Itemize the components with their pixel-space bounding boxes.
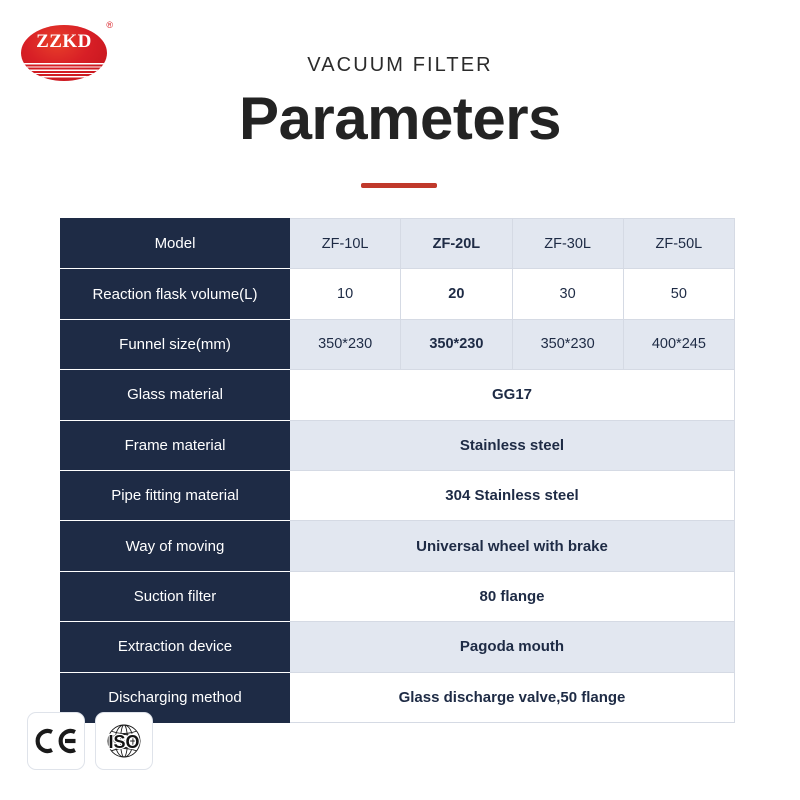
- table-row: Reaction flask volume(L)10203050: [61, 269, 735, 319]
- row-label: Model: [61, 219, 290, 269]
- row-label: Extraction device: [61, 622, 290, 672]
- row-value-zf-30l: ZF-30L: [512, 219, 623, 269]
- table-body: ModelZF-10LZF-20LZF-30LZF-50LReaction fl…: [61, 219, 735, 723]
- row-value-zf-20l: 20: [401, 269, 512, 319]
- row-label: Way of moving: [61, 521, 290, 571]
- row-value-merged: Stainless steel: [290, 420, 735, 470]
- specifications-table: ModelZF-10LZF-20LZF-30LZF-50LReaction fl…: [60, 218, 735, 723]
- row-value-zf-20l: ZF-20L: [401, 219, 512, 269]
- ce-mark-icon: [35, 727, 77, 755]
- row-value-zf-10l: 350*230: [290, 319, 401, 369]
- row-value-zf-10l: 10: [290, 269, 401, 319]
- row-value-zf-50l: ZF-50L: [623, 219, 734, 269]
- page-subtitle: VACUUM FILTER: [0, 54, 800, 77]
- ce-badge: [27, 712, 85, 770]
- registered-trademark-icon: ®: [106, 21, 113, 30]
- table-row: Discharging methodGlass discharge valve,…: [61, 672, 735, 722]
- row-label: Frame material: [61, 420, 290, 470]
- table-row: Glass materialGG17: [61, 370, 735, 420]
- row-value-merged: Glass discharge valve,50 flange: [290, 672, 735, 722]
- iso-badge: ISO: [95, 712, 153, 770]
- row-label: Funnel size(mm): [61, 319, 290, 369]
- row-value-zf-50l: 400*245: [623, 319, 734, 369]
- table-row: Way of movingUniversal wheel with brake: [61, 521, 735, 571]
- row-label: Suction filter: [61, 571, 290, 621]
- row-value-zf-20l: 350*230: [401, 319, 512, 369]
- svg-text:ISO: ISO: [108, 732, 139, 752]
- iso-globe-icon: ISO: [101, 719, 147, 763]
- logo-wordmark: ZZKD: [21, 32, 107, 51]
- row-value-zf-30l: 30: [512, 269, 623, 319]
- row-value-zf-50l: 50: [623, 269, 734, 319]
- row-label: Glass material: [61, 370, 290, 420]
- row-value-zf-10l: ZF-10L: [290, 219, 401, 269]
- row-value-merged: Pagoda mouth: [290, 622, 735, 672]
- title-divider: [361, 183, 437, 188]
- table-row: ModelZF-10LZF-20LZF-30LZF-50L: [61, 219, 735, 269]
- certification-badges: ISO: [27, 712, 153, 770]
- page-title: Parameters: [0, 86, 800, 152]
- row-value-merged: GG17: [290, 370, 735, 420]
- row-label: Pipe fitting material: [61, 470, 290, 520]
- row-value-zf-30l: 350*230: [512, 319, 623, 369]
- row-label: Reaction flask volume(L): [61, 269, 290, 319]
- table-row: Funnel size(mm)350*230350*230350*230400*…: [61, 319, 735, 369]
- row-value-merged: 80 flange: [290, 571, 735, 621]
- row-value-merged: Universal wheel with brake: [290, 521, 735, 571]
- table-row: Frame materialStainless steel: [61, 420, 735, 470]
- table-row: Suction filter80 flange: [61, 571, 735, 621]
- table-row: Pipe fitting material304 Stainless steel: [61, 470, 735, 520]
- row-value-merged: 304 Stainless steel: [290, 470, 735, 520]
- table-row: Extraction devicePagoda mouth: [61, 622, 735, 672]
